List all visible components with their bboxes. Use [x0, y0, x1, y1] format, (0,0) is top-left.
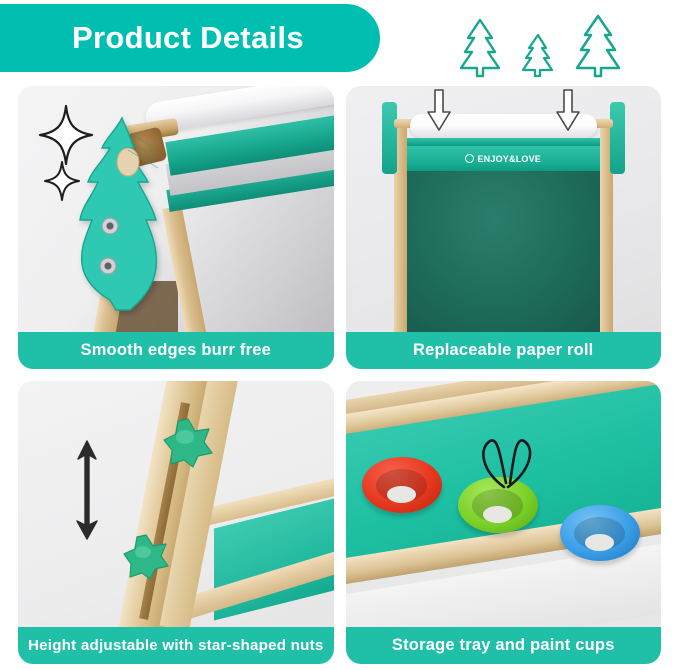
feature-panel-storage-tray[interactable]: Storage tray and paint cups: [346, 381, 662, 664]
product-photo-height-adjustable: [18, 381, 334, 664]
panel-caption-storage-tray: Storage tray and paint cups: [346, 627, 662, 664]
product-photo-storage-tray: [346, 381, 662, 664]
brand-logo-panel2: ENJOY&LOVE: [465, 154, 541, 164]
page-header: Product Details: [0, 0, 679, 86]
down-arrow-icon-right: [555, 88, 581, 132]
sparkle-decoration-group: [32, 100, 102, 205]
paint-cup-blue-base: [585, 534, 614, 551]
paint-cup-red-base: [387, 486, 416, 503]
product-photo-paper-roll: ENJOY&LOVE: [346, 86, 662, 369]
star-shaped-nut-lower: [122, 533, 170, 581]
pine-tree-icon-left: [455, 16, 505, 78]
green-chalkboard: [407, 171, 601, 332]
pine-tree-decoration-group: [455, 16, 655, 78]
pine-tree-icon-right: [571, 12, 625, 78]
feature-panel-height-adjustable[interactable]: Height adjustable with star-shaped nuts: [18, 381, 334, 664]
double-arrow-vertical-icon: [74, 437, 100, 543]
product-photo-smooth-edges: [18, 86, 334, 369]
panel-caption-paper-roll: Replaceable paper roll: [346, 332, 662, 369]
roll-bracket-right: [610, 102, 625, 174]
product-details-page: Product Details: [0, 0, 679, 670]
pine-tree-icon-middle: [519, 32, 557, 78]
sparkle-icon-small: [45, 162, 79, 200]
sparkle-icon-large: [40, 106, 92, 164]
panel-caption-height-adjustable: Height adjustable with star-shaped nuts: [18, 627, 334, 664]
board-top-trim: [407, 138, 601, 146]
down-arrow-icon-left: [426, 88, 452, 132]
roll-bracket-left: [382, 102, 397, 174]
brand-mark-icon: [465, 154, 474, 163]
header-banner: Product Details: [0, 4, 380, 72]
paint-cup-blue: [560, 505, 640, 561]
star-shaped-nut-upper: [162, 417, 214, 469]
feature-panel-grid: Smooth edges burr free ENJOY&LOVE: [0, 86, 679, 670]
feature-panel-paper-roll[interactable]: ENJOY&LOVE Replaceable paper roll: [346, 86, 662, 369]
paint-cup-green-base: [483, 506, 512, 523]
paint-cup-red: [362, 457, 442, 513]
board-logo-bar: ENJOY&LOVE: [407, 146, 601, 171]
cup-handle-wire: [464, 437, 548, 489]
feature-panel-smooth-edges[interactable]: Smooth edges burr free: [18, 86, 334, 369]
brand-name-text: ENJOY&LOVE: [477, 154, 541, 164]
page-title: Product Details: [72, 20, 304, 56]
panel-caption-smooth-edges: Smooth edges burr free: [18, 332, 334, 369]
